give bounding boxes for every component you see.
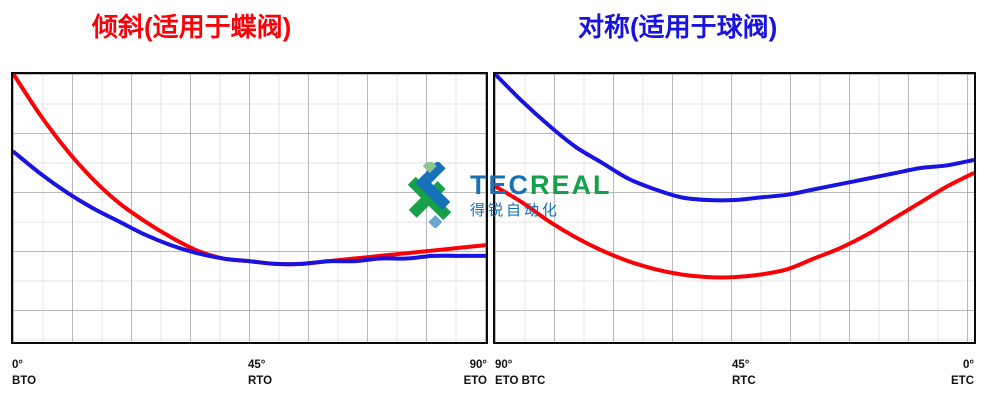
tick-degree: 90° [495, 358, 545, 374]
left-axis-tick-45deg-rto: 45° RTO [248, 358, 272, 389]
right-axis-tick-0deg-etc: 0° ETC [951, 358, 974, 389]
red-torque-curve [14, 75, 485, 264]
tick-degree: 45° [732, 358, 756, 374]
tick-degree: 90° [464, 358, 487, 374]
blue-torque-curve [496, 75, 973, 200]
left-chart-title: 倾斜(适用于蝶阀) [92, 14, 291, 40]
right-axis-tick-45deg-rtc: 45° RTC [732, 358, 756, 389]
tick-degree: 45° [248, 358, 272, 374]
left-chart-curves [11, 72, 488, 344]
tick-code: ETC [951, 374, 974, 390]
tick-code: ETO BTC [495, 374, 545, 390]
tick-code: BTO [12, 374, 36, 390]
red-torque-curve [496, 173, 973, 277]
left-chart-plot-area [11, 72, 488, 344]
tick-code: RTO [248, 374, 272, 390]
torque-curve-figure: 倾斜(适用于蝶阀) 对称(适用于球阀) TECREAL 得锐自动化 [0, 0, 985, 405]
left-axis-tick-90deg-eto: 90° ETO [464, 358, 487, 389]
right-axis-tick-90deg-eto-btc: 90° ETO BTC [495, 358, 545, 389]
left-axis-tick-0deg-bto: 0° BTO [12, 358, 36, 389]
tick-code: ETO [464, 374, 487, 390]
right-chart-plot-area [493, 72, 976, 344]
right-chart-curves [493, 72, 976, 344]
tick-degree: 0° [951, 358, 974, 374]
tick-code: RTC [732, 374, 756, 390]
tick-degree: 0° [12, 358, 36, 374]
right-chart-title: 对称(适用于球阀) [578, 14, 777, 40]
